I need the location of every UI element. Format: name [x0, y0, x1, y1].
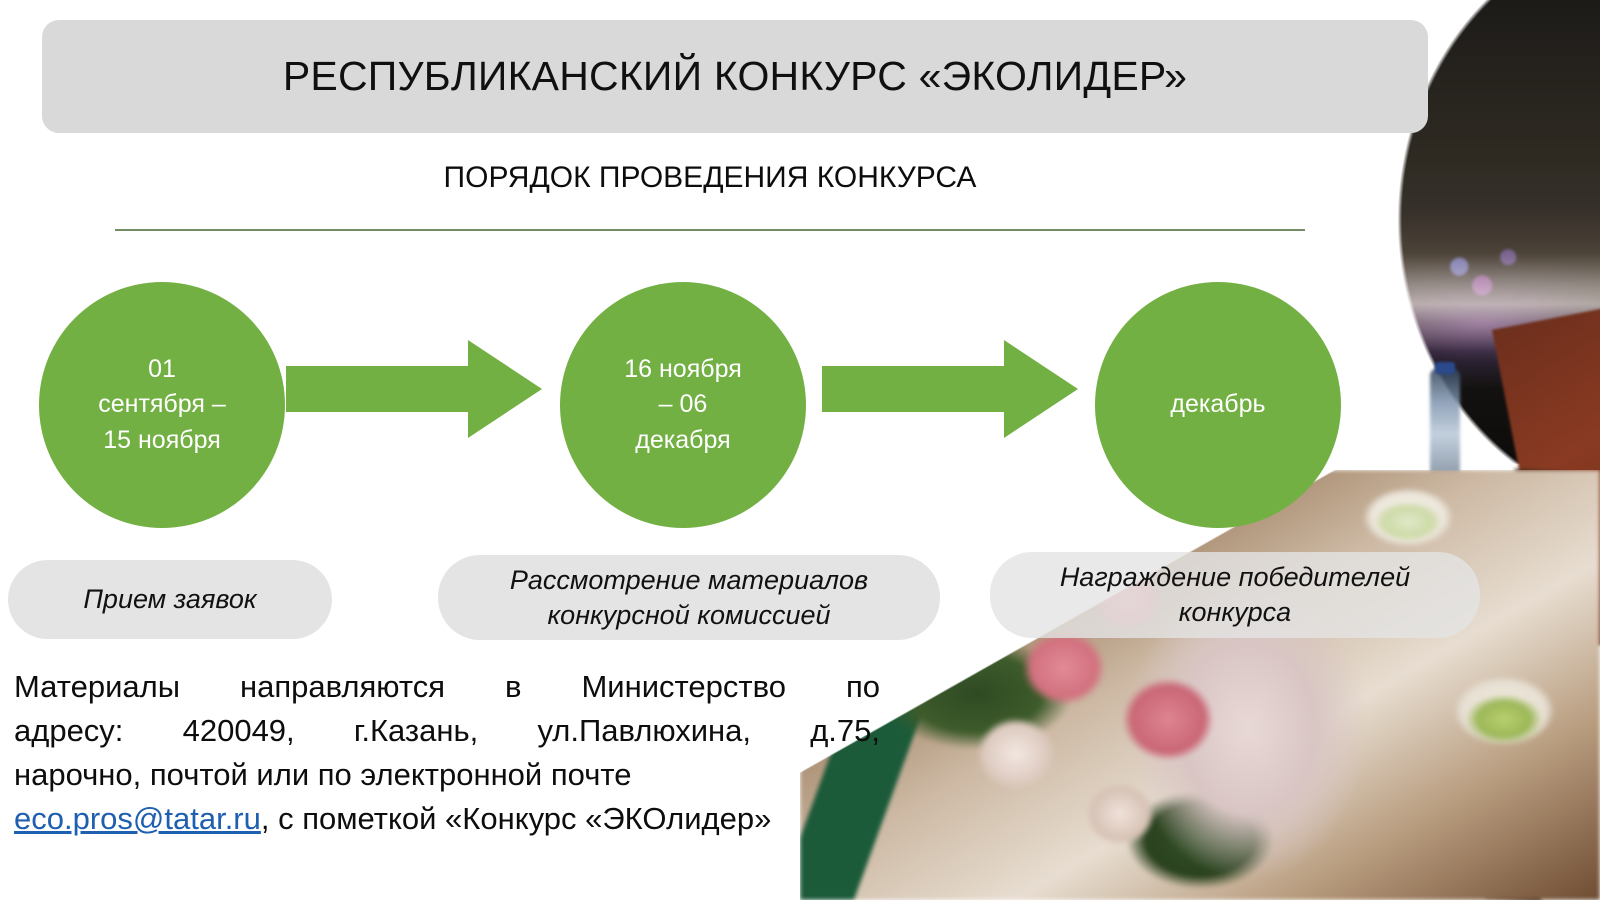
- flow-step-3-caption: Награждение победителей конкурса: [990, 552, 1480, 638]
- flow-step-1-caption: Прием заявок: [8, 560, 332, 639]
- flow-step-3-caption-line-2: конкурса: [1179, 597, 1291, 627]
- contact-line-4: eco.pros@tatar.ru, с пометкой «Конкурс «…: [14, 797, 880, 841]
- arrow-right-icon: [822, 338, 1078, 440]
- slide-canvas: РЕСПУБЛИКАНСКИЙ КОНКУРС «ЭКОЛИДЕР» ПОРЯД…: [0, 0, 1600, 900]
- flow-step-1-date-line-2: сентября –: [98, 390, 226, 418]
- flow-step-3-circle: декабрь: [1095, 282, 1341, 528]
- contact-line-4-tail: , с пометкой «Конкурс «ЭКОлидер»: [261, 801, 771, 836]
- contact-line-1: Материалы направляются в Министерство по: [14, 665, 880, 709]
- contact-paragraph: Материалы направляются в Министерство по…: [14, 665, 880, 841]
- flow-step-2-date-line-2: – 06: [659, 390, 708, 418]
- flow-step-2-caption: Рассмотрение материалов конкурсной комис…: [438, 555, 940, 640]
- flow-step-3-date-line-1: декабрь: [1170, 387, 1265, 423]
- flow-step-3-caption-line-1: Награждение победителей: [1060, 562, 1410, 592]
- flow-step-1-circle: 01 сентября – 15 ноября: [39, 282, 285, 528]
- flow-step-2-caption-line-2: конкурсной комиссией: [547, 600, 830, 630]
- flow-step-1-caption-text: Прием заявок: [83, 582, 256, 617]
- flow-step-2-caption-line-1: Рассмотрение материалов: [510, 565, 868, 595]
- flow-step-1-date-line-3: 15 ноября: [103, 426, 220, 454]
- flow-step-2-date-line-1: 16 ноября: [624, 355, 741, 383]
- arrow-right-icon: [286, 338, 542, 440]
- flow-step-1-date-line-1: 01: [148, 355, 176, 383]
- contact-line-2: адресу: 420049, г.Казань, ул.Павлюхина, …: [14, 709, 880, 753]
- flow-step-2-date-line-3: декабря: [635, 426, 730, 454]
- email-link[interactable]: eco.pros@tatar.ru: [14, 801, 261, 836]
- contact-line-3: нарочно, почтой или по электронной почте: [14, 753, 880, 797]
- flow-step-2-circle: 16 ноября – 06 декабря: [560, 282, 806, 528]
